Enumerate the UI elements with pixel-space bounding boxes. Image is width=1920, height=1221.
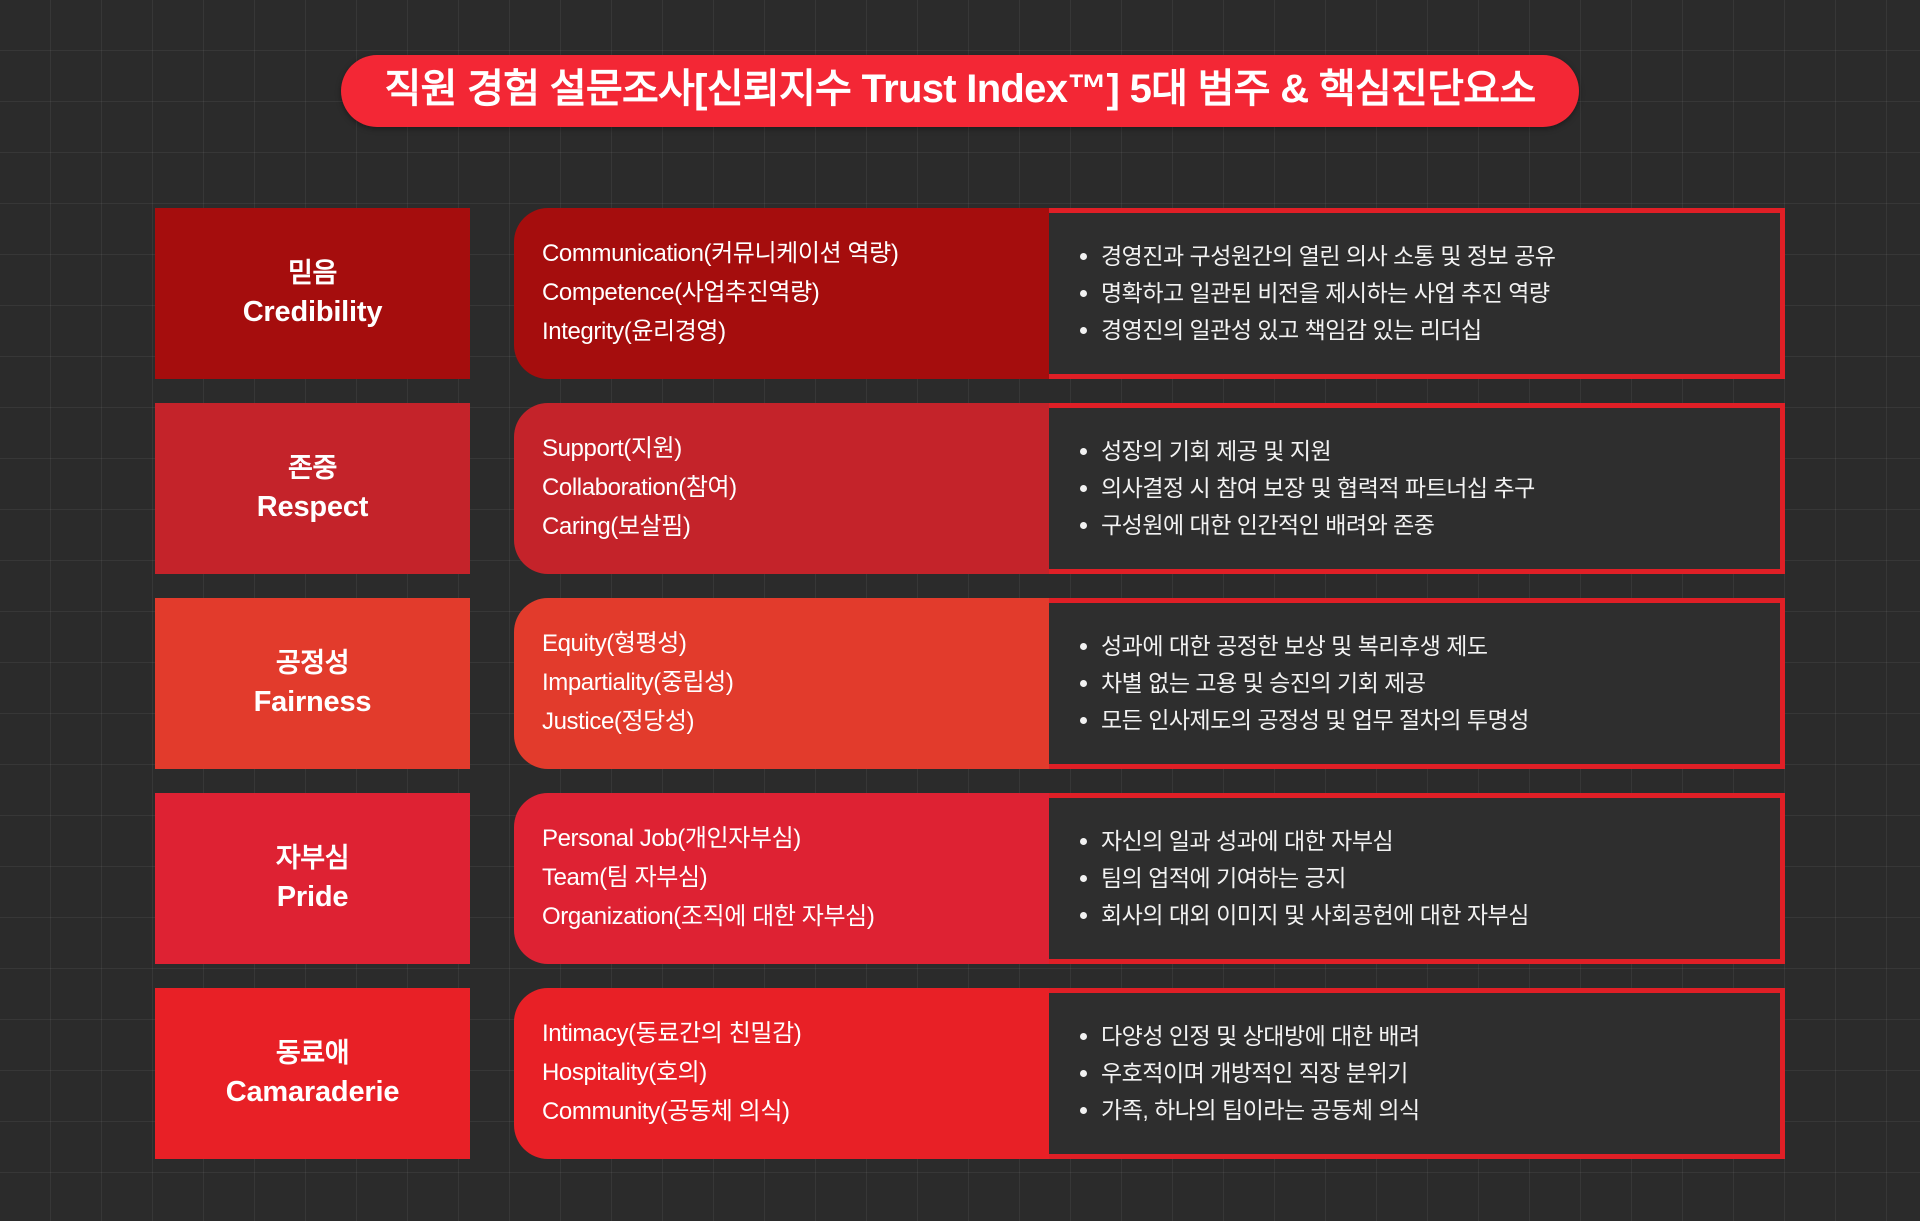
detail-item: 구성원에 대한 인간적인 배려와 존중 [1078, 507, 1760, 544]
category-block-pride[interactable]: 자부심Pride [155, 793, 470, 964]
detail-item: 가족, 하나의 팀이라는 공동체 의식 [1078, 1092, 1760, 1129]
row-spacer [470, 598, 514, 769]
element-line: Collaboration(참여) [542, 469, 1049, 508]
trust-row: 동료애CamaraderieIntimacy(동료간의 친밀감)Hospital… [155, 988, 1785, 1159]
detail-item: 회사의 대외 이미지 및 사회공헌에 대한 자부심 [1078, 897, 1760, 934]
trust-index-matrix: 믿음CredibilityCommunication(커뮤니케이션 역량)Com… [155, 208, 1785, 1159]
category-block-credibility[interactable]: 믿음Credibility [155, 208, 470, 379]
detail-item: 자신의 일과 성과에 대한 자부심 [1078, 823, 1760, 860]
category-label-en: Respect [257, 489, 368, 525]
detail-item: 경영진의 일관성 있고 책임감 있는 리더십 [1078, 312, 1760, 349]
detail-list: 다양성 인정 및 상대방에 대한 배려우호적이며 개방적인 직장 분위기가족, … [1078, 1018, 1760, 1130]
detail-item: 성장의 기회 제공 및 지원 [1078, 433, 1760, 470]
element-line: Competence(사업추진역량) [542, 274, 1049, 313]
elements-block[interactable]: Intimacy(동료간의 친밀감)Hospitality(호의)Communi… [514, 988, 1049, 1159]
detail-item: 모든 인사제도의 공정성 및 업무 절차의 투명성 [1078, 702, 1760, 739]
page-title: 직원 경험 설문조사[신뢰지수 Trust Index™] 5대 범주 & 핵심… [341, 55, 1580, 127]
row-spacer [470, 403, 514, 574]
detail-list: 성과에 대한 공정한 보상 및 복리후생 제도차별 없는 고용 및 승진의 기회… [1078, 628, 1760, 740]
trust-row: 공정성FairnessEquity(형평성)Impartiality(중립성)J… [155, 598, 1785, 769]
elements-block[interactable]: Equity(형평성)Impartiality(중립성)Justice(정당성) [514, 598, 1049, 769]
detail-item: 팀의 업적에 기여하는 긍지 [1078, 860, 1760, 897]
detail-item: 다양성 인정 및 상대방에 대한 배려 [1078, 1018, 1760, 1055]
element-line: Intimacy(동료간의 친밀감) [542, 1015, 1049, 1054]
detail-item: 차별 없는 고용 및 승진의 기회 제공 [1078, 665, 1760, 702]
trust-row: 존중RespectSupport(지원)Collaboration(참여)Car… [155, 403, 1785, 574]
title-banner: 직원 경험 설문조사[신뢰지수 Trust Index™] 5대 범주 & 핵심… [0, 55, 1920, 127]
element-line: Communication(커뮤니케이션 역량) [542, 235, 1049, 274]
row-spacer [470, 988, 514, 1159]
element-line: Hospitality(호의) [542, 1054, 1049, 1093]
detail-item: 성과에 대한 공정한 보상 및 복리후생 제도 [1078, 628, 1760, 665]
element-line: Justice(정당성) [542, 703, 1049, 742]
details-block[interactable]: 경영진과 구성원간의 열린 의사 소통 및 정보 공유명확하고 일관된 비전을 … [1015, 208, 1785, 379]
details-block[interactable]: 자신의 일과 성과에 대한 자부심팀의 업적에 기여하는 긍지회사의 대외 이미… [1015, 793, 1785, 964]
category-label-en: Fairness [254, 684, 372, 720]
element-line: Support(지원) [542, 430, 1049, 469]
element-line: Organization(조직에 대한 자부심) [542, 898, 1049, 937]
category-label-ko: 믿음 [288, 257, 337, 291]
details-block[interactable]: 성장의 기회 제공 및 지원의사결정 시 참여 보장 및 협력적 파트너십 추구… [1015, 403, 1785, 574]
detail-list: 자신의 일과 성과에 대한 자부심팀의 업적에 기여하는 긍지회사의 대외 이미… [1078, 823, 1760, 935]
element-line: Team(팀 자부심) [542, 859, 1049, 898]
category-block-respect[interactable]: 존중Respect [155, 403, 470, 574]
detail-item: 명확하고 일관된 비전을 제시하는 사업 추진 역량 [1078, 275, 1760, 312]
trust-row: 믿음CredibilityCommunication(커뮤니케이션 역량)Com… [155, 208, 1785, 379]
element-line: Integrity(윤리경영) [542, 313, 1049, 352]
detail-list: 성장의 기회 제공 및 지원의사결정 시 참여 보장 및 협력적 파트너십 추구… [1078, 433, 1760, 545]
category-label-en: Pride [277, 879, 349, 915]
elements-block[interactable]: Personal Job(개인자부심)Team(팀 자부심)Organizati… [514, 793, 1049, 964]
elements-block[interactable]: Communication(커뮤니케이션 역량)Competence(사업추진역… [514, 208, 1049, 379]
row-spacer [470, 793, 514, 964]
category-label-ko: 존중 [288, 452, 337, 486]
element-line: Caring(보살핌) [542, 508, 1049, 547]
details-block[interactable]: 다양성 인정 및 상대방에 대한 배려우호적이며 개방적인 직장 분위기가족, … [1015, 988, 1785, 1159]
element-line: Personal Job(개인자부심) [542, 820, 1049, 859]
element-line: Equity(형평성) [542, 625, 1049, 664]
category-block-camaraderie[interactable]: 동료애Camaraderie [155, 988, 470, 1159]
detail-item: 경영진과 구성원간의 열린 의사 소통 및 정보 공유 [1078, 238, 1760, 275]
elements-block[interactable]: Support(지원)Collaboration(참여)Caring(보살핌) [514, 403, 1049, 574]
category-label-ko: 동료애 [276, 1037, 349, 1071]
element-line: Impartiality(중립성) [542, 664, 1049, 703]
detail-list: 경영진과 구성원간의 열린 의사 소통 및 정보 공유명확하고 일관된 비전을 … [1078, 238, 1760, 350]
detail-item: 우호적이며 개방적인 직장 분위기 [1078, 1055, 1760, 1092]
category-label-en: Credibility [243, 294, 383, 330]
category-label-ko: 자부심 [276, 842, 349, 876]
row-spacer [470, 208, 514, 379]
element-line: Community(공동체 의식) [542, 1093, 1049, 1132]
detail-item: 의사결정 시 참여 보장 및 협력적 파트너십 추구 [1078, 470, 1760, 507]
category-label-en: Camaraderie [226, 1074, 400, 1110]
category-block-fairness[interactable]: 공정성Fairness [155, 598, 470, 769]
details-block[interactable]: 성과에 대한 공정한 보상 및 복리후생 제도차별 없는 고용 및 승진의 기회… [1015, 598, 1785, 769]
trust-row: 자부심PridePersonal Job(개인자부심)Team(팀 자부심)Or… [155, 793, 1785, 964]
category-label-ko: 공정성 [276, 647, 349, 681]
